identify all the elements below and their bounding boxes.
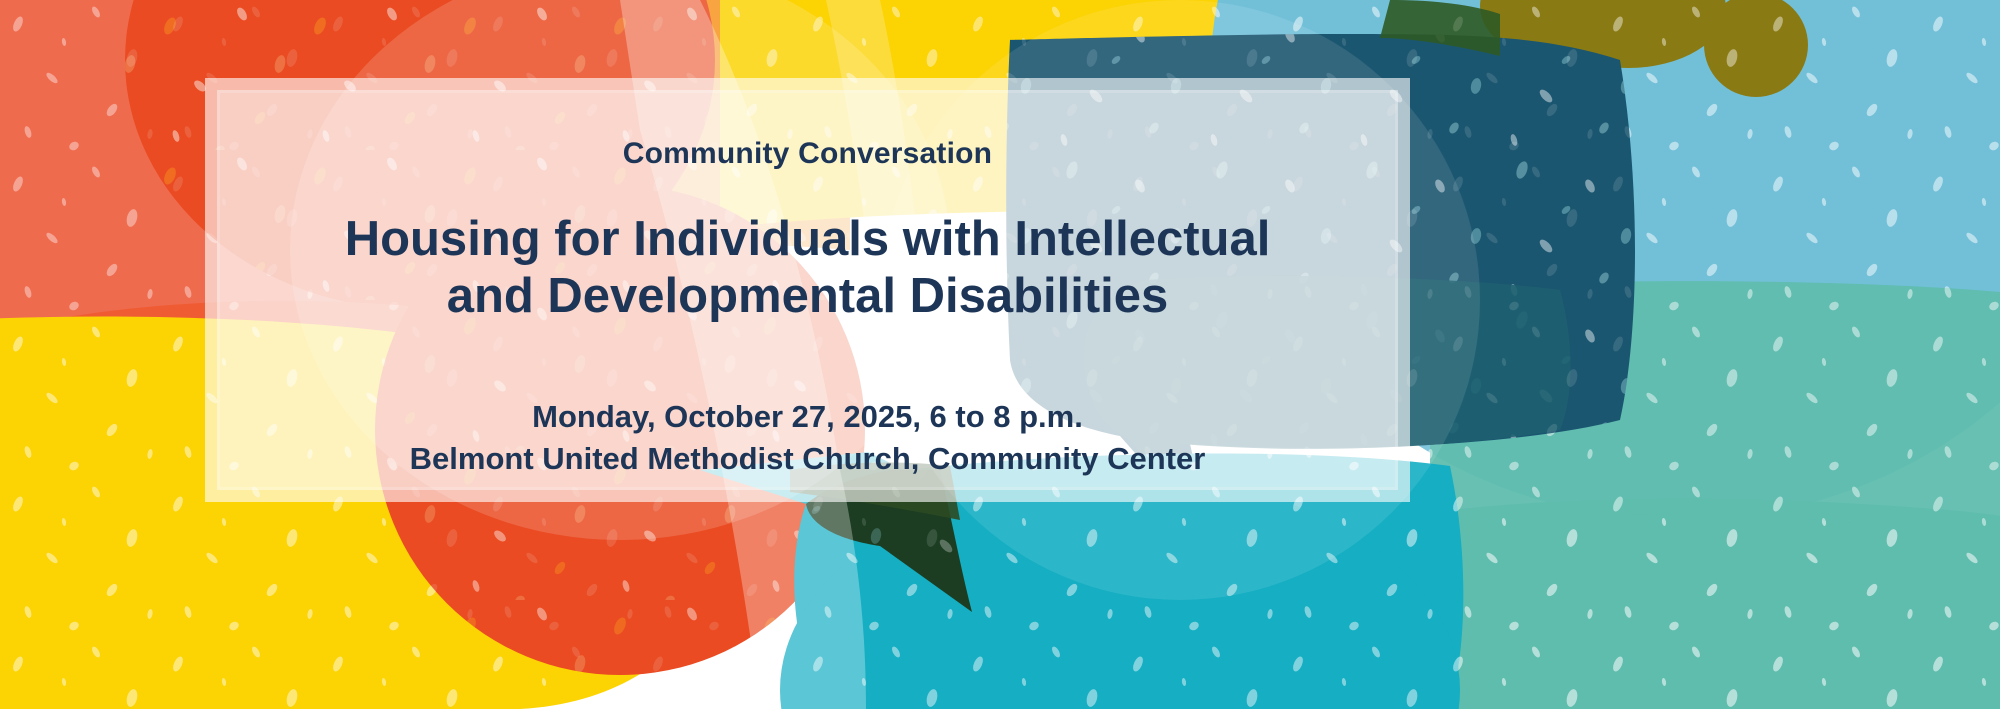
- event-datetime: Monday, October 27, 2025, 6 to 8 p.m.: [410, 396, 1206, 437]
- event-details: Monday, October 27, 2025, 6 to 8 p.m. Be…: [410, 396, 1206, 478]
- eyebrow-label: Community Conversation: [623, 137, 992, 171]
- event-venue: Belmont United Methodist Church, Communi…: [410, 438, 1206, 479]
- headline-line-1: Housing for Individuals with Intellectua…: [345, 211, 1271, 268]
- page-title: Housing for Individuals with Intellectua…: [345, 211, 1271, 326]
- headline-line-2: and Developmental Disabilities: [345, 268, 1271, 325]
- event-banner: Community Conversation Housing for Indiv…: [0, 0, 2000, 709]
- content-panel-inner-border: Community Conversation Housing for Indiv…: [217, 90, 1398, 490]
- content-panel: Community Conversation Housing for Indiv…: [205, 78, 1410, 502]
